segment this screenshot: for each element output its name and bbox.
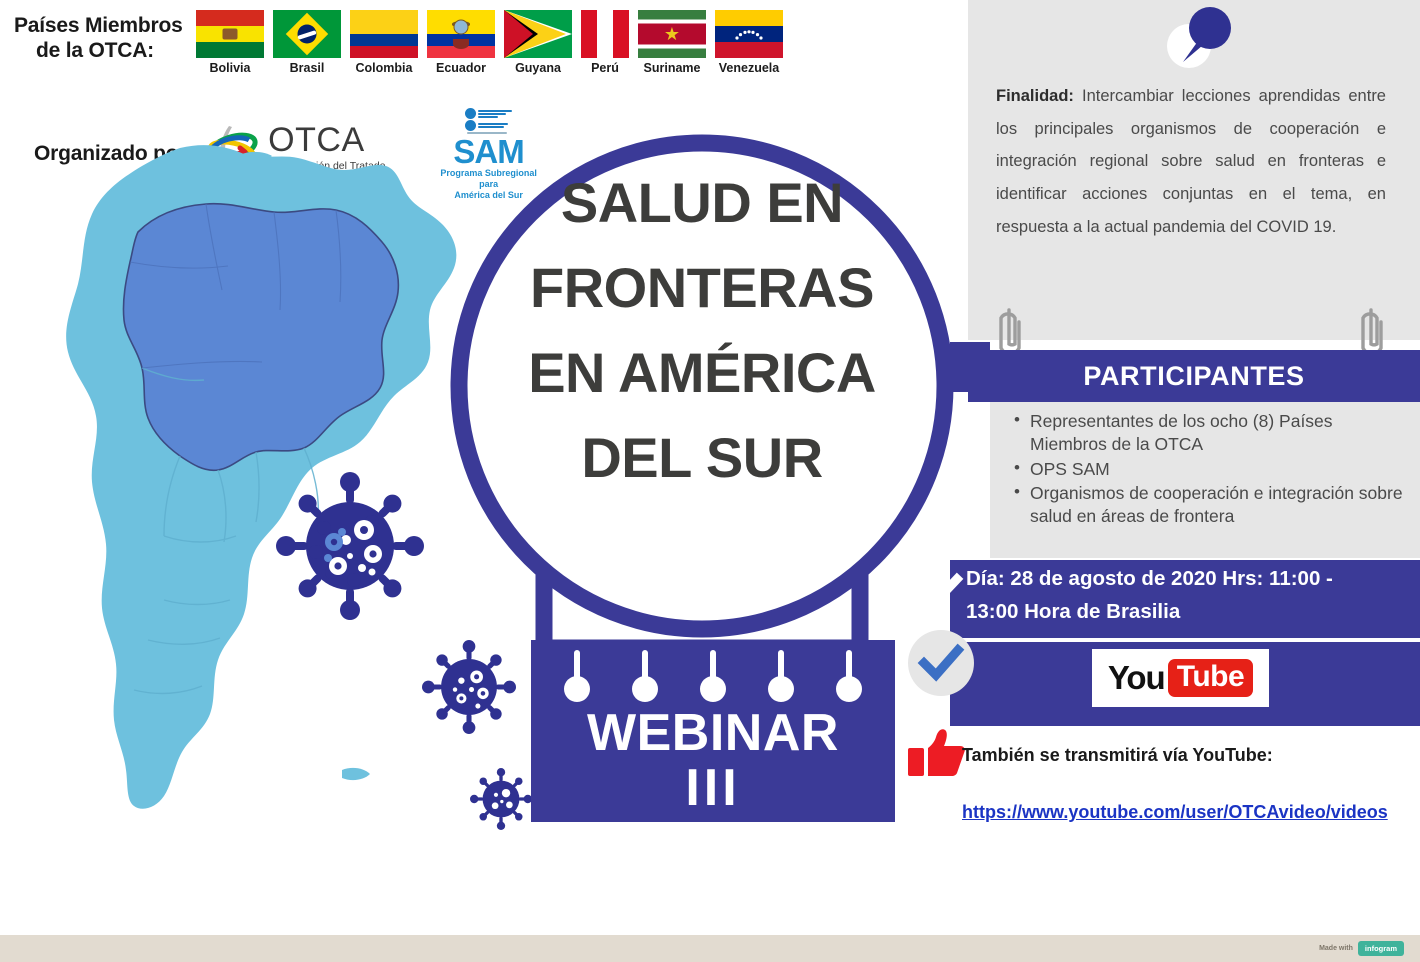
virus-icon-small [470,768,532,830]
schedule-text: Día: 28 de agosto de 2020 Hrs: 11:00 - 1… [966,562,1396,628]
member-flags-row: Bolivia Brasil Colombia Ecuador Guyana [196,10,783,75]
infogram-brand: infogram [1358,941,1404,956]
flag-item-peru: Perú [581,10,629,75]
webinar-label-block: WEBINAR III [531,706,895,816]
poster-title-line-3: EN AMÉRICA [500,330,904,415]
virus-icon-large [276,472,424,620]
colombia-flag-icon [350,10,418,58]
poster-title-line-2: FRONTERAS [500,245,904,330]
check-icon-badge [908,630,974,696]
purpose-label: Finalidad: [996,87,1074,105]
flag-item-bolivia: Bolivia [196,10,264,75]
flag-label-suriname: Suriname [644,61,701,75]
made-with-label: Made with [1319,945,1353,952]
participants-heading: PARTICIPANTES [968,350,1420,402]
lightbulb-filament-pins [531,640,895,700]
pushpin-icon [1163,4,1235,70]
poster-title-line-4: DEL SUR [500,415,904,500]
venezuela-flag-icon [715,10,783,58]
purpose-body: Intercambiar lecciones aprendidas entre … [996,87,1386,236]
list-item: Representantes de los ocho (8) Países Mi… [1014,410,1406,457]
flag-label-peru: Perú [591,61,619,75]
poster-title-line-1: SALUD EN [500,160,904,245]
footer-bar [0,935,1420,962]
ecuador-flag-icon [427,10,495,58]
flag-label-ecuador: Ecuador [436,61,486,75]
thumbs-up-icon [908,728,966,778]
flag-item-suriname: ★ Suriname [638,10,706,75]
flag-label-bolivia: Bolivia [210,61,251,75]
flag-item-venezuela: Venezuela [715,10,783,75]
flag-item-colombia: Colombia [350,10,418,75]
youtube-link[interactable]: https://www.youtube.com/user/OTCAvideo/v… [962,802,1420,823]
south-america-map [30,140,500,840]
participants-list: Representantes de los ocho (8) Países Mi… [1014,410,1406,529]
bolivia-flag-icon [196,10,264,58]
youtube-logo-you: You [1108,659,1165,697]
schedule-line-1: Día: 28 de agosto de 2020 Hrs: 11:00 - [966,562,1396,595]
suriname-flag-icon: ★ [638,10,706,58]
webinar-number: III [531,761,895,816]
peru-flag-icon [581,10,629,58]
schedule-line-2: 13:00 Hora de Brasilia [966,595,1396,628]
list-item: Organismos de cooperación e integración … [1014,482,1406,529]
member-countries-label-line1: Países Miembros [14,14,183,37]
poster-canvas: Países Miembros de la OTCA: Bolivia Bras… [0,0,1420,962]
webinar-label: WEBINAR [587,704,839,762]
lightbulb-base: WEBINAR III [531,640,895,822]
flag-item-brasil: Brasil [273,10,341,75]
purpose-text: Finalidad: Intercambiar lecciones aprend… [996,80,1386,243]
flag-label-brasil: Brasil [290,61,325,75]
member-countries-label: Países Miembros de la OTCA: [14,14,194,64]
member-countries-label-line2: de la OTCA: [14,39,194,64]
flag-item-ecuador: Ecuador [427,10,495,75]
flag-label-colombia: Colombia [356,61,413,75]
youtube-logo[interactable]: You Tube [1092,649,1269,707]
poster-title: SALUD EN FRONTERAS EN AMÉRICA DEL SUR [500,160,904,500]
flag-item-guyana: Guyana [504,10,572,75]
youtube-logo-tube: Tube [1168,659,1253,697]
guyana-flag-icon [504,10,572,58]
youtube-note: También se transmitirá vía YouTube: [962,745,1412,766]
flag-label-venezuela: Venezuela [719,61,779,75]
brasil-flag-icon [273,10,341,58]
made-with-infogram-badge[interactable]: Made with infogram [1319,941,1404,956]
check-icon-white [922,568,964,610]
flag-label-guyana: Guyana [515,61,561,75]
list-item: OPS SAM [1014,458,1406,481]
